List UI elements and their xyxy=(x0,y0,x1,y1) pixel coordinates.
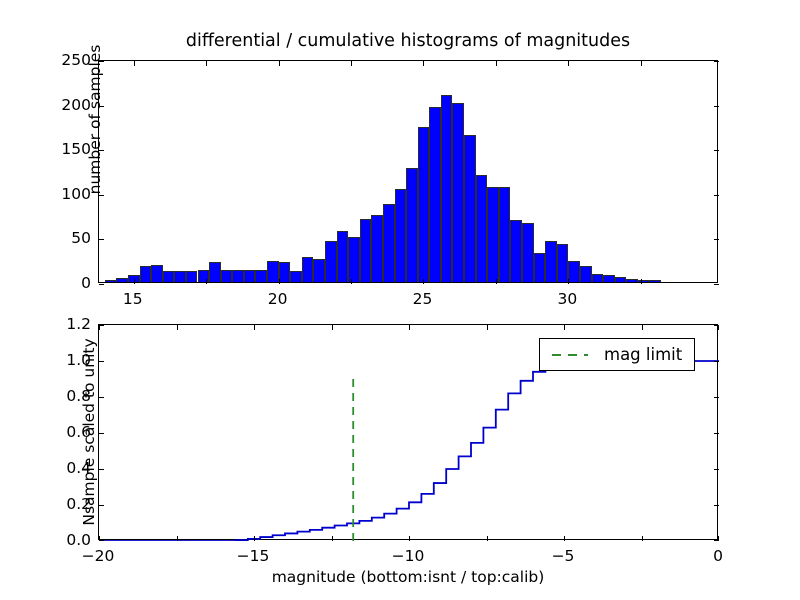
x-tick xyxy=(279,61,280,66)
histogram-bar xyxy=(406,168,418,282)
y-tick xyxy=(714,361,719,362)
histogram-bars xyxy=(99,61,717,282)
x-tick xyxy=(487,536,488,541)
y-tick xyxy=(714,325,719,326)
histogram-bar xyxy=(452,103,464,282)
y-tick xyxy=(714,239,719,240)
x-tick xyxy=(568,279,569,284)
x-tick-label: 30 xyxy=(557,290,577,308)
histogram-bar xyxy=(557,244,569,282)
histogram-bar xyxy=(441,95,453,282)
histogram-bar xyxy=(499,187,511,282)
histogram-bar xyxy=(337,231,349,282)
x-tick-label: 15 xyxy=(123,290,143,308)
x-tick xyxy=(641,61,642,66)
y-tick xyxy=(99,540,104,541)
x-tick xyxy=(642,536,643,541)
y-tick xyxy=(99,433,104,434)
x-tick xyxy=(177,536,178,541)
x-tick xyxy=(134,61,135,66)
x-tick-label: −20 xyxy=(82,547,115,565)
y-tick xyxy=(99,361,104,362)
x-tick xyxy=(206,279,207,284)
histogram-bar xyxy=(383,204,395,282)
y-tick-label: 50 xyxy=(71,229,91,247)
y-tick xyxy=(714,505,719,506)
x-tick xyxy=(564,325,565,330)
histogram-bar xyxy=(151,265,163,282)
histogram-bar xyxy=(302,257,314,282)
y-tick xyxy=(714,106,719,107)
histogram-bar xyxy=(395,189,407,282)
histogram-bar xyxy=(371,215,383,282)
histogram-bar xyxy=(174,271,186,282)
histogram-bar xyxy=(140,266,152,282)
x-tick xyxy=(568,61,569,66)
histogram-axes xyxy=(98,60,718,283)
histogram-bar xyxy=(487,187,499,282)
histogram-bar xyxy=(255,270,267,282)
x-tick xyxy=(332,536,333,541)
histogram-bar xyxy=(464,135,476,282)
y-tick xyxy=(99,397,104,398)
x-tick xyxy=(134,279,135,284)
histogram-bar xyxy=(580,266,592,282)
histogram-bar xyxy=(534,253,546,282)
y-tick xyxy=(99,469,104,470)
histogram-bar xyxy=(209,262,221,282)
histogram-bar xyxy=(348,237,360,282)
histogram-bar xyxy=(186,271,198,282)
histogram-bar xyxy=(290,271,302,282)
y-tick xyxy=(714,469,719,470)
y-tick-label: 0 xyxy=(81,274,91,292)
histogram-bar xyxy=(626,279,638,282)
cumulative-axes: mag limit xyxy=(98,324,718,540)
histogram-bar xyxy=(232,270,244,282)
x-tick-label: −5 xyxy=(552,547,575,565)
y-tick xyxy=(714,540,719,541)
y-tick xyxy=(714,397,719,398)
y-tick xyxy=(99,505,104,506)
histogram-bar xyxy=(510,220,522,282)
y-tick xyxy=(714,195,719,196)
histogram-bar xyxy=(198,270,210,282)
bottom-xlabel: magnitude (bottom:isnt / top:calib) xyxy=(98,568,718,586)
histogram-bar xyxy=(279,262,291,282)
x-tick-label: −10 xyxy=(392,547,425,565)
y-tick xyxy=(714,284,719,285)
x-tick xyxy=(642,325,643,330)
x-tick xyxy=(409,325,410,330)
x-tick xyxy=(206,61,207,66)
legend-label: mag limit xyxy=(604,345,682,364)
histogram-bar xyxy=(476,175,488,282)
bottom-ylabel: Nsample scaled to unity xyxy=(80,324,98,540)
histogram-bar xyxy=(568,261,580,282)
y-tick xyxy=(714,433,719,434)
x-tick-label: 0 xyxy=(713,547,723,565)
histogram-bar xyxy=(522,223,534,282)
histogram-bar xyxy=(615,277,627,282)
x-tick-label: 20 xyxy=(268,290,288,308)
histogram-bar xyxy=(244,270,256,282)
histogram-bar xyxy=(267,261,279,282)
x-tick xyxy=(496,61,497,66)
x-tick xyxy=(496,279,497,284)
histogram-bar xyxy=(429,107,441,282)
y-tick xyxy=(99,325,104,326)
histogram-bar xyxy=(603,275,615,282)
top-ylabel: number of samples xyxy=(86,8,104,231)
x-tick-label: −15 xyxy=(237,547,270,565)
x-tick xyxy=(351,279,352,284)
x-tick xyxy=(177,325,178,330)
legend-box[interactable]: mag limit xyxy=(539,338,695,371)
x-tick-label: 25 xyxy=(413,290,433,308)
dashed-line-icon xyxy=(550,349,590,361)
histogram-bar xyxy=(105,280,117,282)
y-tick xyxy=(99,239,104,240)
x-tick xyxy=(409,536,410,541)
x-tick xyxy=(564,536,565,541)
histogram-bar xyxy=(545,241,557,282)
y-tick xyxy=(714,61,719,62)
x-tick xyxy=(423,279,424,284)
histogram-bar xyxy=(418,127,430,282)
histogram-bar xyxy=(313,259,325,282)
histogram-bar xyxy=(649,280,661,282)
x-tick xyxy=(351,61,352,66)
histogram-bar xyxy=(221,270,233,282)
histogram-bar xyxy=(360,219,372,282)
histogram-bar xyxy=(163,271,175,282)
histogram-bar xyxy=(638,280,650,282)
matplotlib-figure: differential / cumulative histograms of … xyxy=(0,0,800,600)
x-tick xyxy=(487,325,488,330)
x-tick xyxy=(254,325,255,330)
x-tick xyxy=(423,61,424,66)
y-tick xyxy=(99,284,104,285)
histogram-bar xyxy=(592,274,604,282)
x-tick xyxy=(641,279,642,284)
x-tick xyxy=(332,325,333,330)
histogram-bar xyxy=(325,241,337,282)
page-title: differential / cumulative histograms of … xyxy=(98,31,718,51)
x-tick xyxy=(279,279,280,284)
x-tick xyxy=(254,536,255,541)
histogram-bar xyxy=(116,278,128,282)
y-tick xyxy=(714,150,719,151)
